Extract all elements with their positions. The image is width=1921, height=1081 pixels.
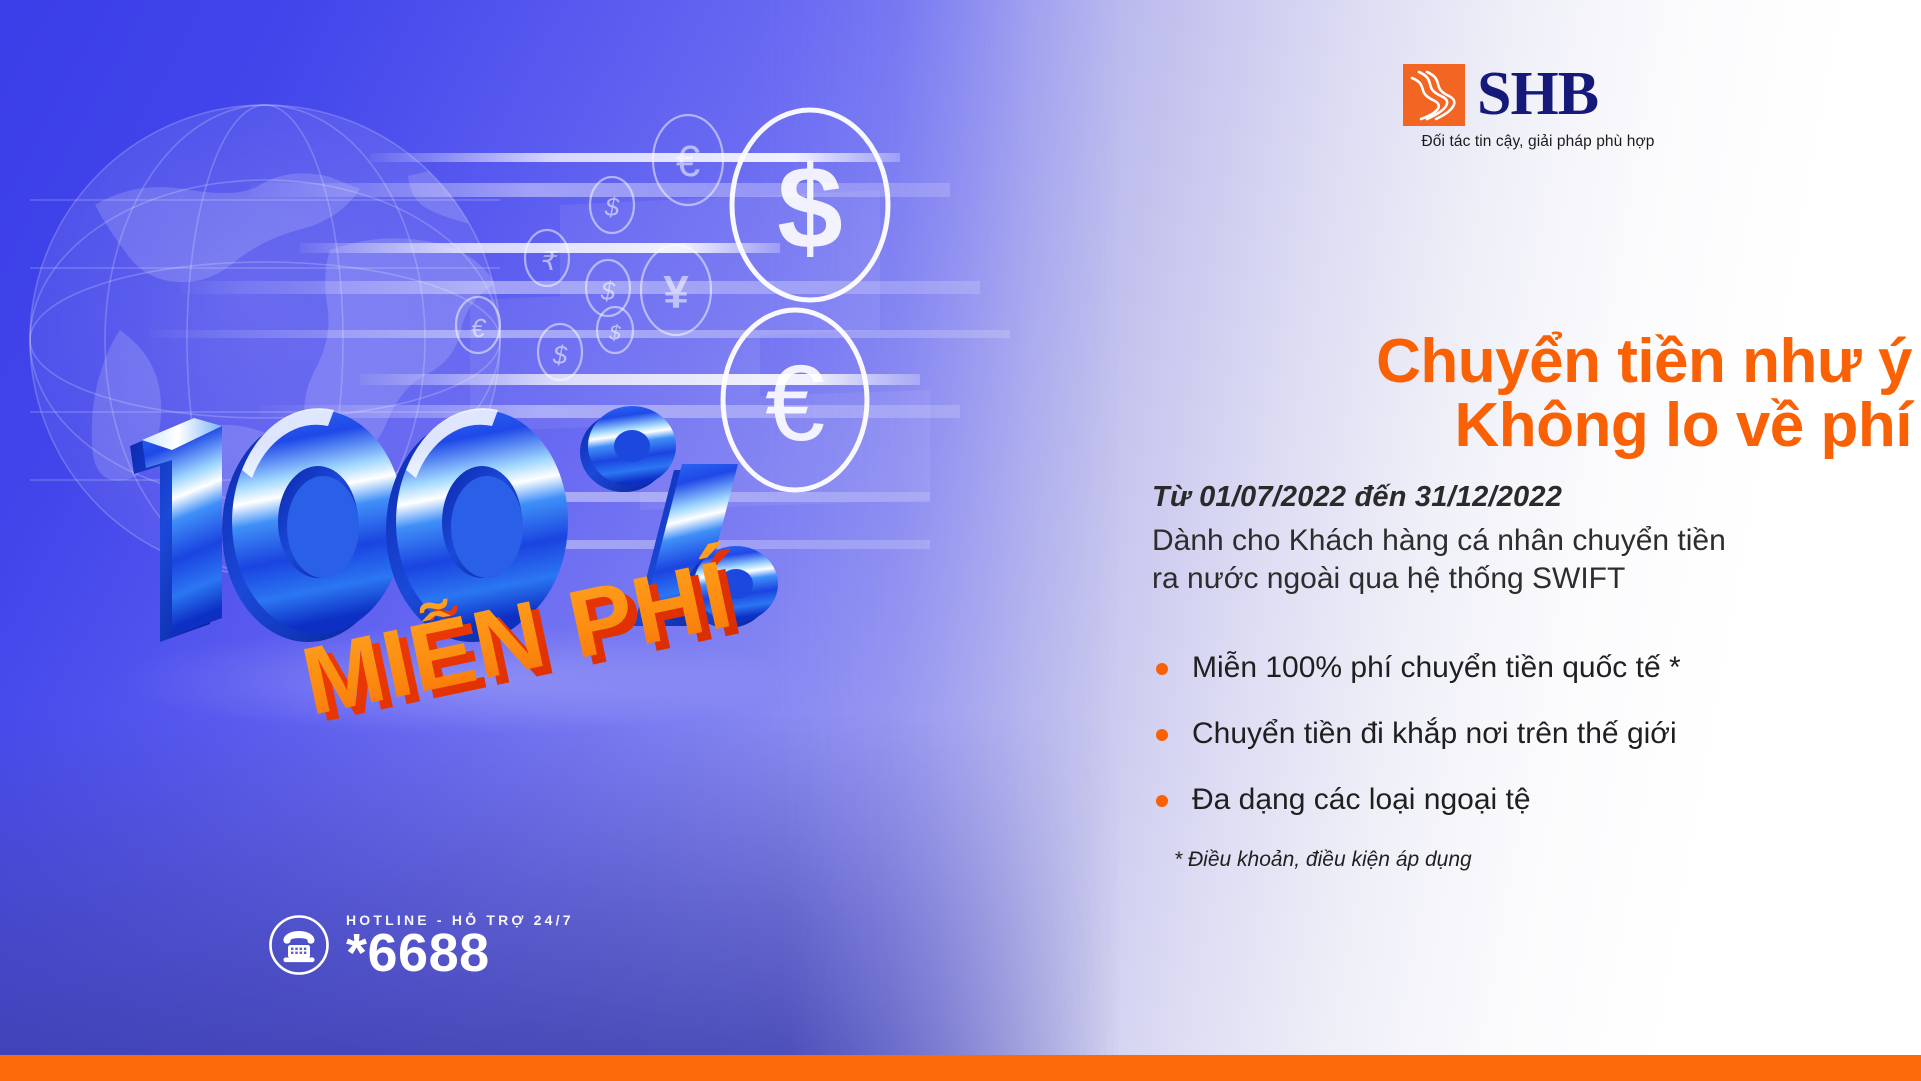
hotline-block: HOTLINE - HỖ TRỢ 24/7 *6688 bbox=[268, 912, 574, 979]
promo-dateline: Từ 01/07/2022 đến 31/12/2022 bbox=[1152, 481, 1912, 514]
promo-copy: Chuyển tiền như ý Không lo về phí Từ 01/… bbox=[1152, 330, 1912, 872]
promo-subtitle-line-2: ra nước ngoài qua hệ thống SWIFT bbox=[1152, 560, 1912, 598]
benefit-text: Chuyển tiền đi khắp nơi trên thế giới bbox=[1192, 717, 1677, 750]
telephone-circle-icon bbox=[268, 914, 330, 976]
headline: Chuyển tiền như ý Không lo về phí bbox=[1152, 330, 1912, 459]
promo-subtitle-line-1: Dành cho Khách hàng cá nhân chuyển tiền bbox=[1152, 522, 1912, 560]
hotline-label: HOTLINE - HỖ TRỢ 24/7 bbox=[346, 912, 574, 928]
svg-text:$: $ bbox=[552, 340, 568, 370]
svg-text:$: $ bbox=[604, 192, 620, 222]
svg-text:$: $ bbox=[600, 276, 616, 306]
svg-text:€: € bbox=[676, 137, 700, 186]
list-item: Đa dạng các loại ngoại tệ bbox=[1152, 782, 1912, 818]
svg-text:$: $ bbox=[608, 322, 621, 345]
benefit-text: Đa dạng các loại ngoại tệ bbox=[1192, 783, 1531, 816]
hero-digit-1 bbox=[130, 418, 222, 642]
terms-footnote: * Điều khoản, điều kiện áp dụng bbox=[1152, 848, 1912, 872]
hero-artwork: MIỄN PHÍ MIỄN PHÍ bbox=[90, 380, 880, 740]
headline-line-2: Không lo về phí bbox=[1152, 394, 1912, 458]
svg-text:¥: ¥ bbox=[663, 266, 689, 318]
svg-text:$: $ bbox=[777, 142, 843, 274]
bullet-dot-icon bbox=[1156, 795, 1168, 807]
svg-text:€: € bbox=[471, 313, 487, 343]
list-item: Miễn 100% phí chuyển tiền quốc tế * bbox=[1152, 650, 1912, 686]
bottom-accent-bar bbox=[0, 1055, 1921, 1081]
promo-banner: $ ₹ $ € $ $ € ¥ $ € bbox=[0, 0, 1921, 1081]
hotline-number: *6688 bbox=[346, 929, 574, 979]
hero-digit-0-a bbox=[222, 408, 404, 642]
shb-wave-mark-icon bbox=[1403, 64, 1465, 126]
logo-wordmark: SHB bbox=[1477, 66, 1598, 123]
bullet-dot-icon bbox=[1156, 729, 1168, 741]
logo-tagline: Đối tác tin cậy, giải pháp phù hợp bbox=[1403, 133, 1673, 151]
headline-line-1: Chuyển tiền như ý bbox=[1376, 327, 1912, 396]
benefit-list: Miễn 100% phí chuyển tiền quốc tế * Chuy… bbox=[1152, 650, 1912, 818]
benefit-text: Miễn 100% phí chuyển tiền quốc tế * bbox=[1192, 651, 1681, 684]
shb-logo: SHB Đối tác tin cậy, giải pháp phù hợp bbox=[1403, 64, 1673, 151]
promo-subtitle: Dành cho Khách hàng cá nhân chuyển tiền … bbox=[1152, 522, 1912, 598]
bullet-dot-icon bbox=[1156, 663, 1168, 675]
list-item: Chuyển tiền đi khắp nơi trên thế giới bbox=[1152, 716, 1912, 752]
